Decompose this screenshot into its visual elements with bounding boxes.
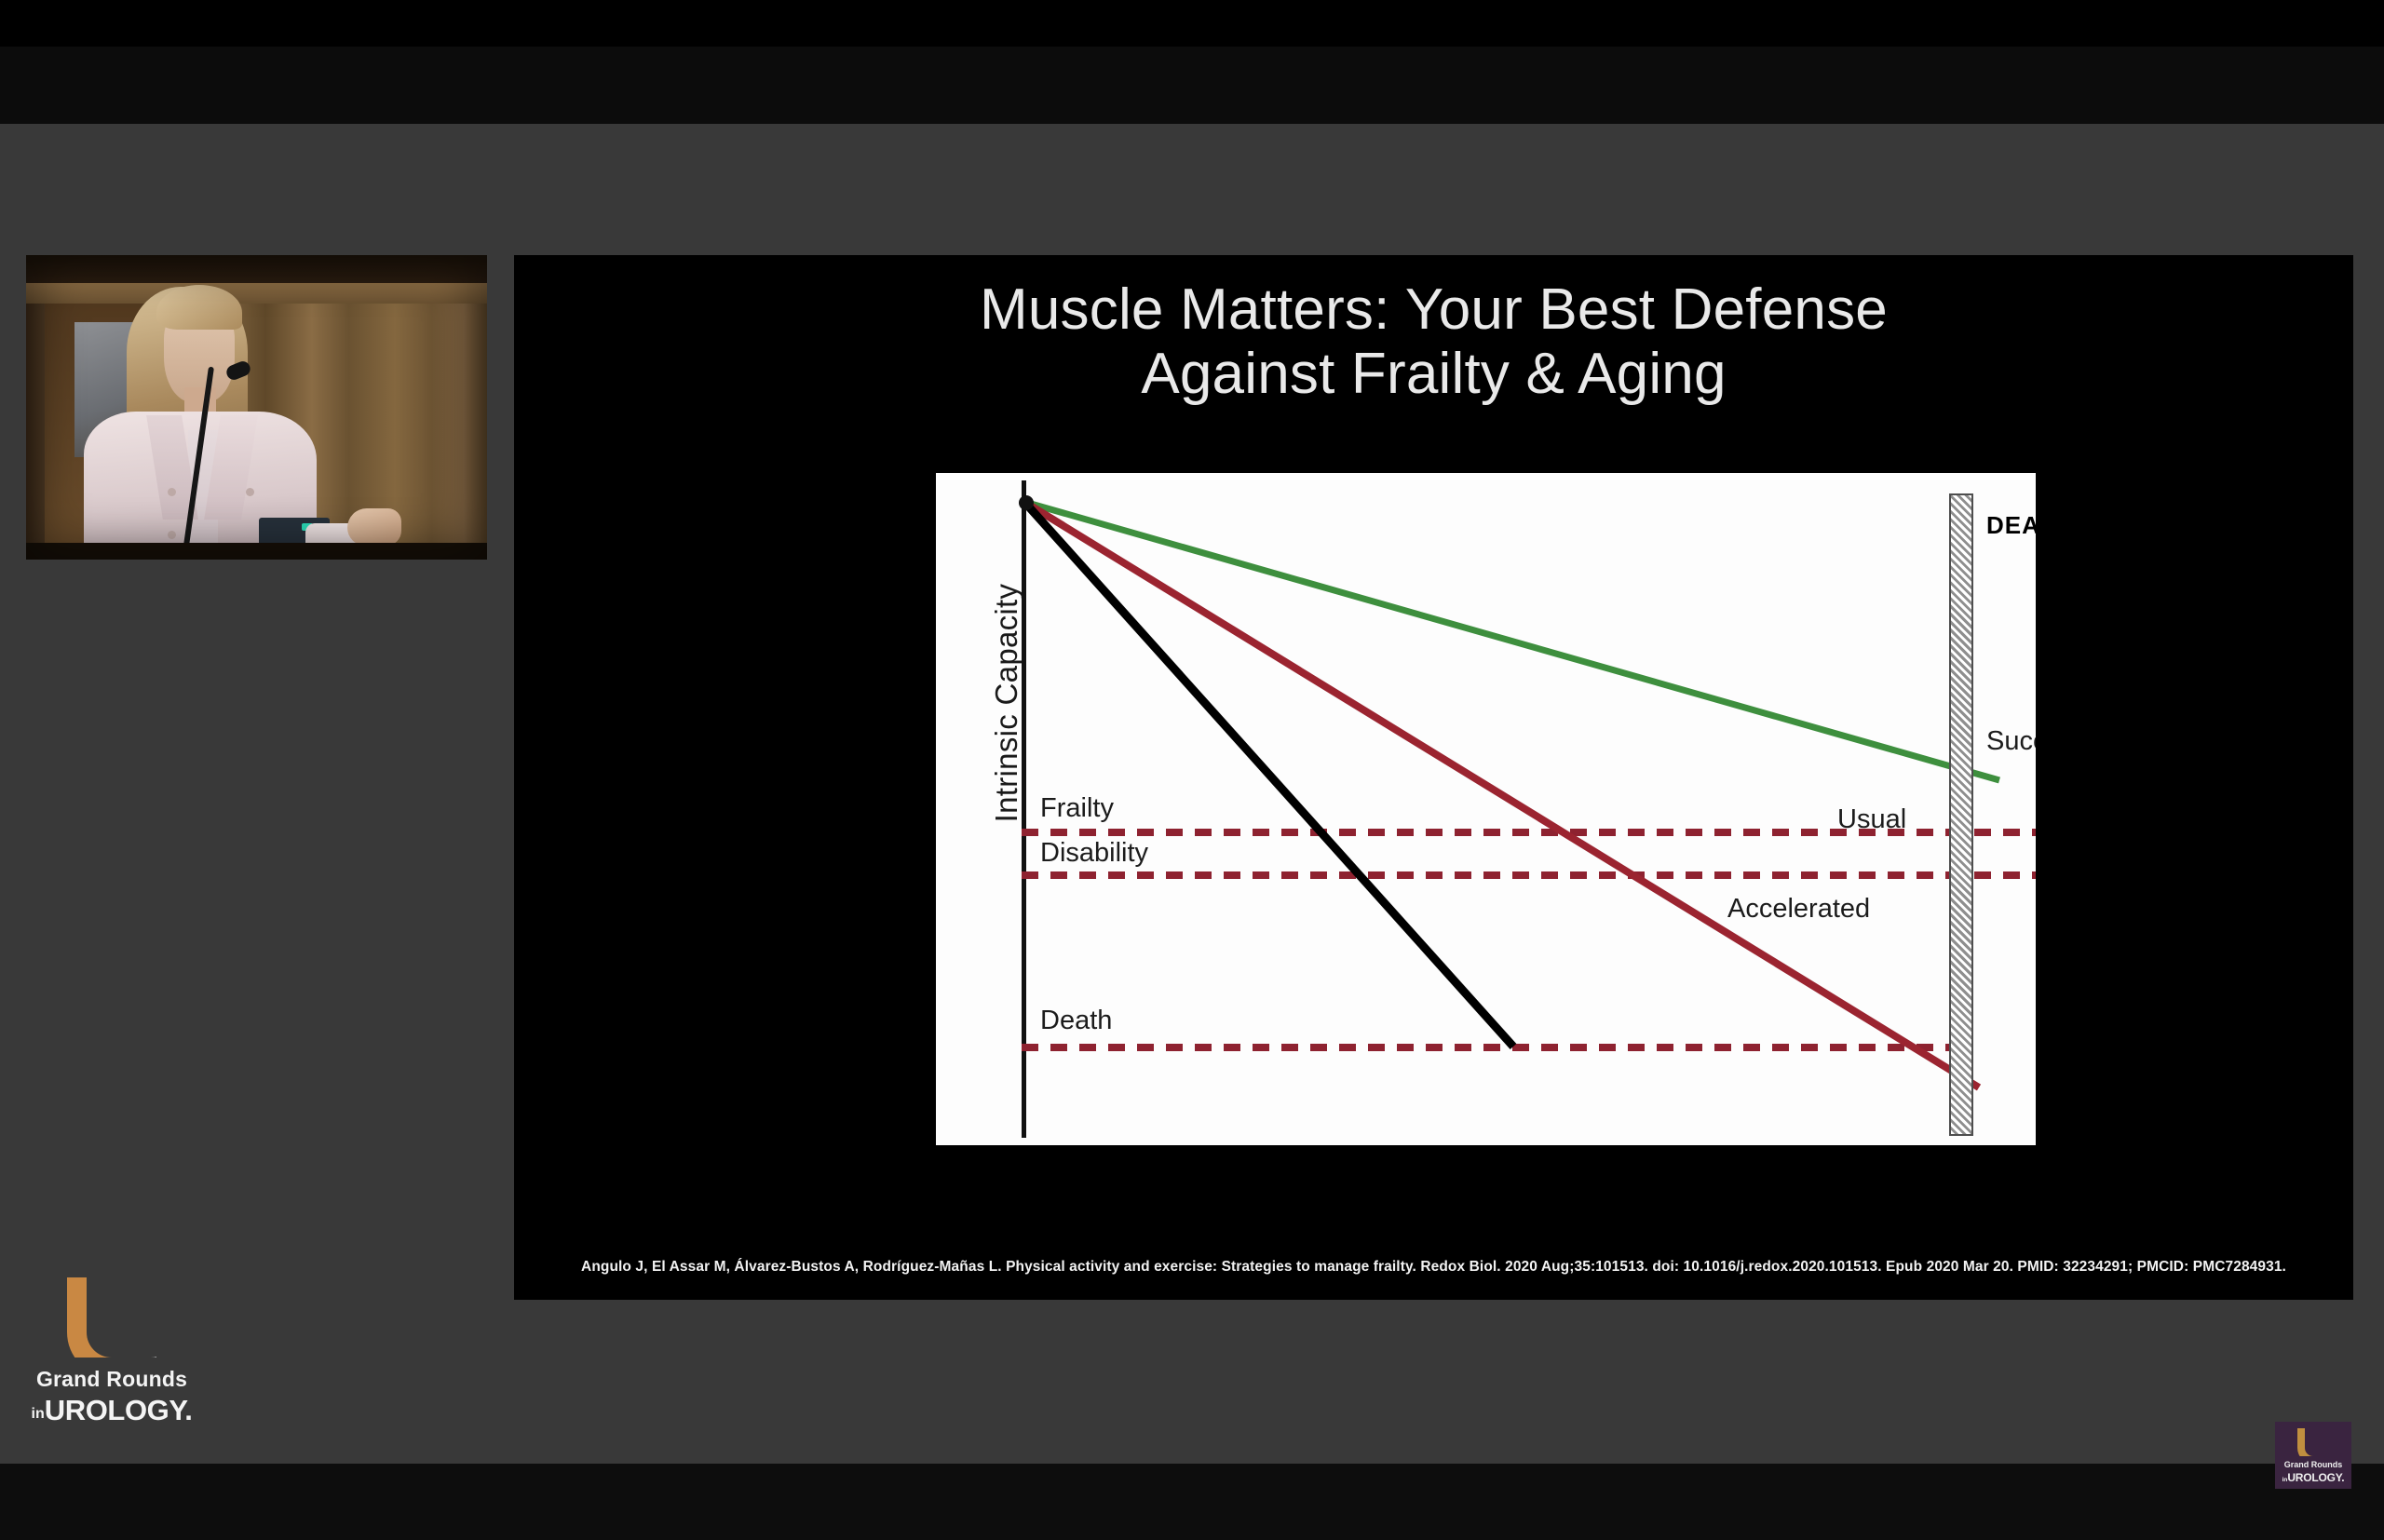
wall-beam <box>26 283 487 304</box>
slide-title-line-1: Muscle Matters: Your Best Defense <box>514 277 2353 342</box>
podium-surface <box>26 543 487 560</box>
frailty-trajectory-chart: Intrinsic Capacity Frailty Disability De… <box>936 473 2036 1145</box>
watermark-u-right-half-icon <box>2313 1428 2329 1456</box>
death-barrier-bar <box>1949 493 1973 1136</box>
u-mark-icon <box>67 1277 156 1358</box>
watermark-line-2-main: UROLOGY. <box>2287 1471 2344 1484</box>
letterbox-bottom-dark <box>0 1464 2384 1540</box>
u-mark-left-half-icon <box>67 1277 112 1358</box>
brand-line-2-in: in <box>32 1406 45 1422</box>
series-line-usual <box>1024 502 1979 1087</box>
series-line-successful-healthy <box>1024 502 1999 780</box>
video-player-stage: Muscle Matters: Your Best Defense Agains… <box>0 0 2384 1540</box>
brand-line-2: inUROLOGY. <box>28 1394 196 1427</box>
death-barrier-label: DEATH <box>1986 510 2024 541</box>
brand-line-1: Grand Rounds <box>28 1367 196 1392</box>
presentation-slide: Muscle Matters: Your Best Defense Agains… <box>514 255 2353 1300</box>
watermark-u-left-half-icon <box>2297 1428 2313 1456</box>
speaker-video-thumbnail[interactable] <box>26 255 487 560</box>
watermark-line-2: inUROLOGY. <box>2275 1469 2351 1486</box>
series-label-usual: Usual <box>1837 804 1906 835</box>
series-line-accelerated <box>1024 502 1513 1047</box>
jacket-button <box>168 488 176 496</box>
series-label-accelerated: Accelerated <box>1727 894 1870 925</box>
slide-title: Muscle Matters: Your Best Defense Agains… <box>514 277 2353 407</box>
letterbox-top-black <box>0 0 2384 47</box>
speaker-hand <box>347 508 401 546</box>
series-common-origin-point <box>1019 495 1034 510</box>
slide-citation: Angulo J, El Assar M, Álvarez-Bustos A, … <box>514 1259 2353 1276</box>
u-mark-right-half-icon <box>112 1277 156 1358</box>
jacket-button <box>246 488 254 496</box>
watermark-u-mark-icon <box>2297 1428 2329 1456</box>
grand-rounds-in-urology-logo: Grand Rounds inUROLOGY. <box>28 1277 196 1426</box>
letterbox-top-dark <box>0 47 2384 124</box>
brand-line-2-main: UROLOGY. <box>45 1394 193 1426</box>
watermark-line-1: Grand Rounds <box>2275 1460 2351 1469</box>
series-label-successful-healthy: Successful/Healthy <box>1986 726 2036 757</box>
slide-title-line-2: Against Frailty & Aging <box>514 342 2353 406</box>
jacket-button <box>168 531 176 539</box>
wall-top-rail <box>26 255 487 283</box>
grand-rounds-in-urology-watermark: Grand Rounds inUROLOGY. <box>2275 1422 2351 1489</box>
